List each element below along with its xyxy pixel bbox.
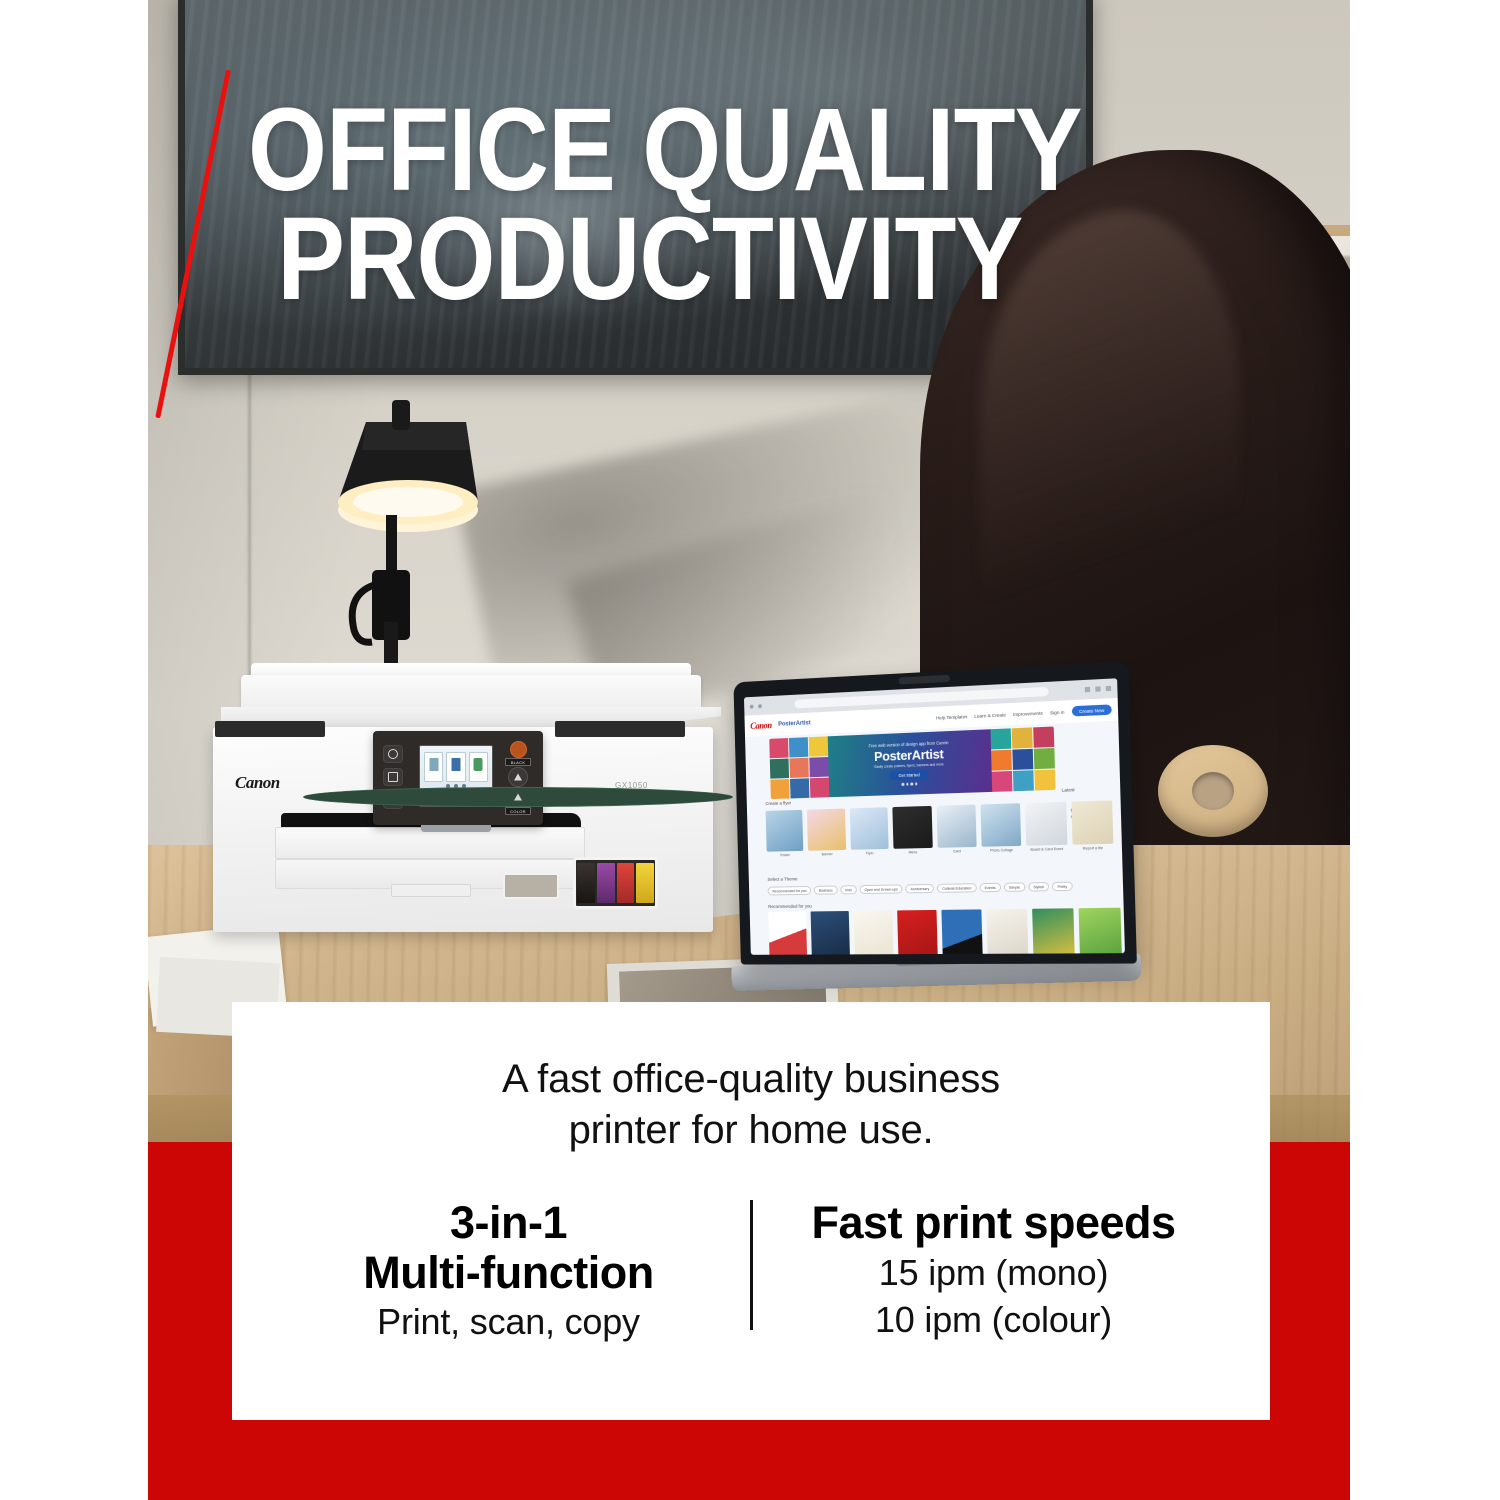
poster-card[interactable] <box>811 911 851 955</box>
nav-item-sign-in[interactable]: Sign in <box>1050 709 1065 715</box>
nav-item-learn-create[interactable]: Learn & Create <box>974 712 1006 718</box>
theme-chip[interactable]: Cultural Education <box>937 883 977 893</box>
feature-columns: 3-in-1 Multi-function Print, scan, copy … <box>232 1198 1270 1344</box>
laptop-camera-notch <box>899 675 950 685</box>
theme-chip[interactable]: Stylish <box>1028 882 1049 892</box>
section-label-latest: Latest <box>1062 787 1075 793</box>
lcd-mode-cards <box>424 752 488 782</box>
template-tile[interactable]: Flyer <box>850 807 889 855</box>
template-tile[interactable]: Card <box>936 805 977 854</box>
window-close-icon[interactable] <box>1106 686 1111 691</box>
template-tile[interactable]: Menu <box>892 806 932 855</box>
promo-collage-right <box>990 727 1055 792</box>
panel-tilt-bar[interactable] <box>421 825 491 832</box>
printer-right-button-column: BLACK COLOR <box>501 741 535 815</box>
poster-results-grid <box>768 908 1125 955</box>
promo-banner[interactable]: Free web version of design app from Cano… <box>769 727 1055 800</box>
poster-card[interactable] <box>986 909 1028 955</box>
theme-chips: Recommended for you Business Kids Open a… <box>768 881 1125 896</box>
theme-chip[interactable]: Open and Grown-ups <box>860 884 903 894</box>
theme-chip[interactable]: Business <box>814 886 838 895</box>
ink-tank-magenta <box>597 863 615 903</box>
feature-speed-mono: 15 ipm (mono) <box>793 1251 1195 1295</box>
card-lede-line-2: printer for home use. <box>502 1105 1000 1156</box>
template-tile-label: Photo Collage <box>982 848 1022 853</box>
template-tile[interactable]: Photo Collage <box>980 803 1021 853</box>
feature-title-fast-print-speeds: Fast print speeds <box>793 1198 1195 1248</box>
section-label-recommended: Recommended for you <box>768 904 812 909</box>
section-label-theme: Select a Theme <box>767 876 797 881</box>
poster-card[interactable] <box>897 910 938 955</box>
browser-tab-icon[interactable] <box>750 704 754 708</box>
feature-sub-print-scan-copy: Print, scan, copy <box>308 1300 710 1344</box>
feature-card: A fast office-quality business printer f… <box>232 1002 1270 1420</box>
ink-tank-window <box>573 857 658 909</box>
feature-title-multifunction: Multi-function <box>308 1248 710 1298</box>
column-divider <box>750 1200 753 1330</box>
stop-button[interactable] <box>510 741 527 758</box>
home-button[interactable] <box>383 768 403 786</box>
template-tile[interactable]: Board & Card Event <box>1025 802 1067 852</box>
laptop-screen: Canon PosterArtist Help Templates Learn … <box>744 678 1125 955</box>
lcd-card-scan[interactable] <box>446 752 465 782</box>
template-tile[interactable]: Banner <box>807 809 846 857</box>
template-tile-label: Menu <box>894 850 933 855</box>
card-lede: A fast office-quality business printer f… <box>502 1054 1000 1156</box>
ink-tank-yellow <box>636 863 654 903</box>
lcd-card-print[interactable] <box>424 752 443 782</box>
poster-card[interactable] <box>1032 908 1075 955</box>
promo-banner-content: Free web version of design app from Cano… <box>828 729 993 797</box>
promo-carousel-dots[interactable] <box>901 783 917 786</box>
theme-chip[interactable]: Anniversary <box>906 884 935 893</box>
power-button[interactable] <box>383 745 403 763</box>
feature-column-multifunction: 3-in-1 Multi-function Print, scan, copy <box>294 1198 724 1344</box>
browser-bookmark-icon[interactable] <box>758 704 762 708</box>
promo-collage-left <box>769 736 829 799</box>
feature-title-3in1: 3-in-1 <box>308 1198 710 1248</box>
poster-card[interactable] <box>768 912 807 955</box>
feature-speed-colour: 10 ipm (colour) <box>793 1298 1195 1342</box>
printer-left-shelf <box>215 721 325 737</box>
printer-right-shelf <box>555 721 685 737</box>
template-tile-label: Poster <box>767 853 804 858</box>
printer-front-slot <box>503 873 559 899</box>
printer-control-panel[interactable]: BLACK COLOR <box>373 731 543 825</box>
ink-tank-black <box>577 863 595 903</box>
ink-tank-red <box>617 863 635 903</box>
section-label-create: Create a flyer <box>765 800 791 806</box>
lcd-card-copy[interactable] <box>469 752 488 782</box>
template-tile-label: Card <box>937 849 976 854</box>
create-new-button[interactable]: Create New <box>1072 704 1112 716</box>
template-tile-label: Banner <box>808 852 846 857</box>
template-tile-label: Report a file <box>1072 846 1113 851</box>
laptop-lid: Canon PosterArtist Help Templates Learn … <box>733 661 1136 964</box>
laptop: Canon PosterArtist Help Templates Learn … <box>728 672 1128 1002</box>
theme-chip[interactable]: Simple <box>1004 882 1026 891</box>
black-start-label: BLACK <box>505 758 531 766</box>
printer-tray-handle[interactable] <box>391 884 471 897</box>
template-tile-label: Flyer <box>851 851 889 856</box>
nav-item-help-templates[interactable]: Help Templates <box>936 714 968 720</box>
template-tile[interactable]: Report a file <box>1071 800 1114 850</box>
site-posterartist-logo[interactable]: PosterArtist <box>778 720 810 727</box>
site-nav: Help Templates Learn & Create Improvemen… <box>936 704 1112 722</box>
site-canon-logo[interactable]: Canon <box>750 720 772 731</box>
window-minimize-icon[interactable] <box>1085 687 1090 692</box>
color-start-label: COLOR <box>505 807 531 815</box>
template-tile-label: Board & Card Event <box>1027 847 1068 852</box>
promo-title: PosterArtist <box>874 747 944 765</box>
poster-card[interactable] <box>941 909 983 954</box>
poster-card[interactable] <box>854 910 894 954</box>
start-black-button[interactable] <box>508 767 528 787</box>
promo-get-started-button[interactable]: Get started <box>890 770 929 780</box>
headline-line-2: PRODUCTIVITY <box>277 205 936 314</box>
template-tile[interactable]: Poster <box>766 810 804 858</box>
card-lede-line-1: A fast office-quality business <box>502 1054 1000 1105</box>
poster-card[interactable] <box>1079 908 1123 955</box>
theme-chip[interactable]: Events <box>979 883 1000 892</box>
theme-chip[interactable]: Kids <box>840 885 857 894</box>
headline-line-1: OFFICE QUALITY <box>248 96 936 205</box>
theme-chip[interactable]: Recommended for you <box>768 886 812 895</box>
start-color-button[interactable] <box>303 787 733 807</box>
feature-column-speeds: Fast print speeds 15 ipm (mono) 10 ipm (… <box>779 1198 1209 1344</box>
headline: OFFICE QUALITY PRODUCTIVITY <box>248 96 936 313</box>
tape-roll <box>1158 745 1268 837</box>
template-tiles: Poster Banner Flyer Menu Card Photo Coll… <box>766 800 1114 857</box>
canon-printer: Canon GX1050 <box>203 675 733 955</box>
tape-roll-core <box>1192 772 1234 810</box>
poster-root: Canon GX1050 <box>0 0 1500 1500</box>
window-maximize-icon[interactable] <box>1095 686 1100 691</box>
theme-chip[interactable]: Pretty <box>1052 882 1072 892</box>
canon-logo: Canon <box>235 773 280 793</box>
nav-item-improvements[interactable]: Improvements <box>1013 710 1043 716</box>
